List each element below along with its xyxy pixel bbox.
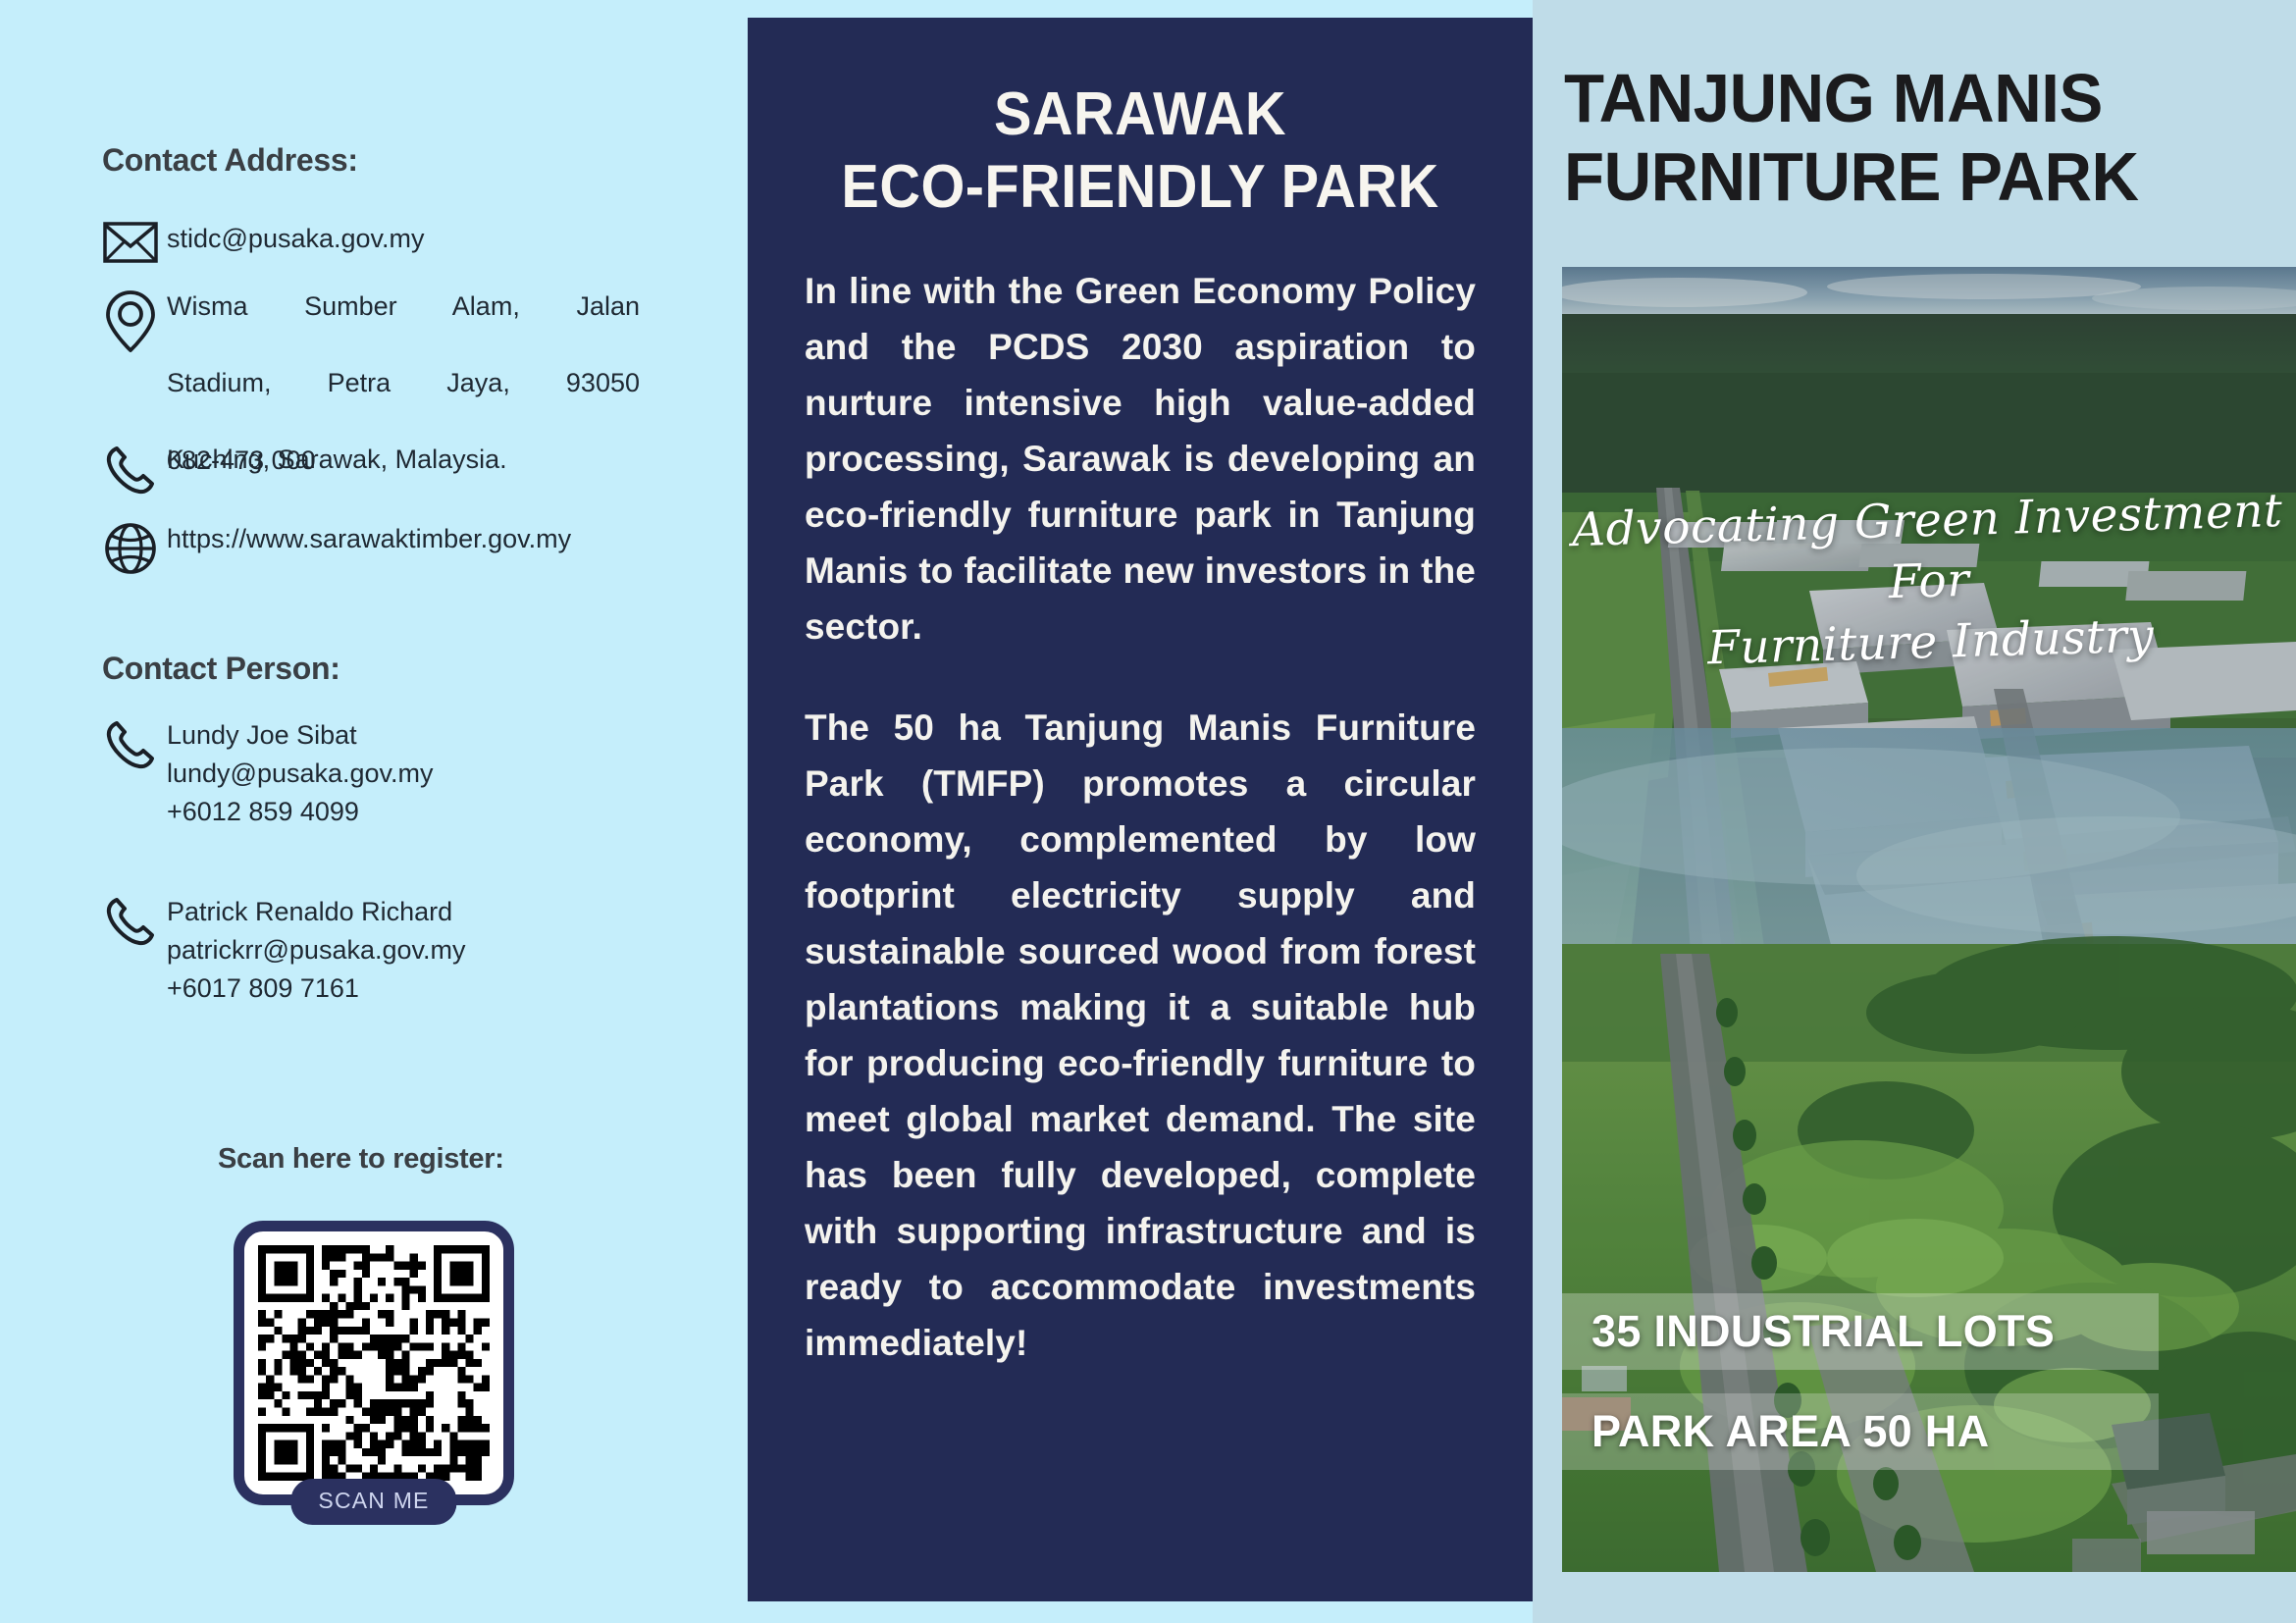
description-card: SARAWAK ECO-FRIENDLY PARK In line with t… bbox=[748, 18, 1533, 1601]
person-name: Patrick Renaldo Richard bbox=[167, 893, 466, 931]
person-phone[interactable]: +6017 809 7161 bbox=[167, 969, 466, 1008]
tagline-line-1: Advocating Green Investment For bbox=[1562, 481, 2296, 623]
contact-person-heading: Contact Person: bbox=[102, 651, 340, 687]
brochure: Contact Address: stidc@pusaka.gov.my bbox=[0, 0, 2296, 1623]
hero-tagline: Advocating Green Investment For Furnitur… bbox=[1562, 481, 2296, 684]
address-line-1: Wisma Sumber Alam, Jalan bbox=[167, 291, 640, 359]
hero-panel: TANJUNG MANIS FURNITURE PARK bbox=[1533, 0, 2296, 1623]
envelope-icon bbox=[94, 220, 167, 263]
hero-title: TANJUNG MANIS FURNITURE PARK bbox=[1564, 59, 2242, 216]
location-pin-icon bbox=[94, 288, 167, 354]
contact-email-row: stidc@pusaka.gov.my bbox=[94, 220, 425, 263]
qr-code[interactable]: SCAN ME bbox=[234, 1221, 514, 1505]
scan-me-badge: SCAN ME bbox=[290, 1479, 456, 1525]
paragraph-1: In line with the Green Economy Policy an… bbox=[805, 263, 1476, 654]
center-title-line-2: ECO-FRIENDLY PARK bbox=[828, 151, 1452, 224]
contact-person-row: Patrick Renaldo Richard patrickrr@pusaka… bbox=[94, 893, 466, 1008]
phone-icon bbox=[94, 716, 167, 771]
contact-person-row: Lundy Joe Sibat lundy@pusaka.gov.my +601… bbox=[94, 716, 434, 831]
contact-address-heading: Contact Address: bbox=[102, 142, 358, 179]
contact-person-details: Lundy Joe Sibat lundy@pusaka.gov.my +601… bbox=[167, 716, 434, 831]
person-email[interactable]: patrickrr@pusaka.gov.my bbox=[167, 931, 466, 969]
stat-industrial-lots-label: 35 INDUSTRIAL LOTS bbox=[1562, 1306, 2055, 1357]
aerial-photo-image bbox=[1562, 267, 2296, 1572]
phone-icon bbox=[94, 442, 167, 497]
description-panel: SARAWAK ECO-FRIENDLY PARK In line with t… bbox=[748, 0, 1533, 1623]
person-name: Lundy Joe Sibat bbox=[167, 716, 434, 755]
scan-heading: Scan here to register: bbox=[218, 1143, 504, 1176]
person-email[interactable]: lundy@pusaka.gov.my bbox=[167, 755, 434, 793]
contact-person-details: Patrick Renaldo Richard patrickrr@pusaka… bbox=[167, 893, 466, 1008]
globe-icon bbox=[94, 520, 167, 575]
stat-industrial-lots: 35 INDUSTRIAL LOTS bbox=[1562, 1293, 2159, 1370]
hero-title-line-1: TANJUNG MANIS bbox=[1564, 59, 2242, 137]
contact-panel: Contact Address: stidc@pusaka.gov.my bbox=[0, 0, 748, 1623]
contact-phone-row: 082-473 000 bbox=[94, 442, 316, 497]
qr-pattern bbox=[258, 1245, 490, 1481]
center-title-line-1: SARAWAK bbox=[828, 79, 1452, 151]
phone-icon bbox=[94, 893, 167, 948]
hero-title-line-2: FURNITURE PARK bbox=[1564, 137, 2242, 216]
contact-website-row: https://www.sarawaktimber.gov.my bbox=[94, 520, 571, 575]
aerial-photo: Advocating Green Investment For Furnitur… bbox=[1562, 267, 2296, 1572]
contact-website[interactable]: https://www.sarawaktimber.gov.my bbox=[167, 520, 571, 558]
stat-park-area-label: PARK AREA 50 HA bbox=[1562, 1406, 1989, 1457]
person-phone[interactable]: +6012 859 4099 bbox=[167, 793, 434, 831]
paragraph-2: The 50 ha Tanjung Manis Furniture Park (… bbox=[805, 700, 1476, 1371]
description-body: In line with the Green Economy Policy an… bbox=[805, 263, 1476, 1371]
contact-phone[interactable]: 082-473 000 bbox=[167, 442, 316, 480]
qr-frame bbox=[234, 1221, 514, 1505]
address-line-2: Stadium, Petra Jaya, 93050 bbox=[167, 368, 640, 436]
stat-park-area: PARK AREA 50 HA bbox=[1562, 1393, 2159, 1470]
contact-email[interactable]: stidc@pusaka.gov.my bbox=[167, 220, 425, 258]
